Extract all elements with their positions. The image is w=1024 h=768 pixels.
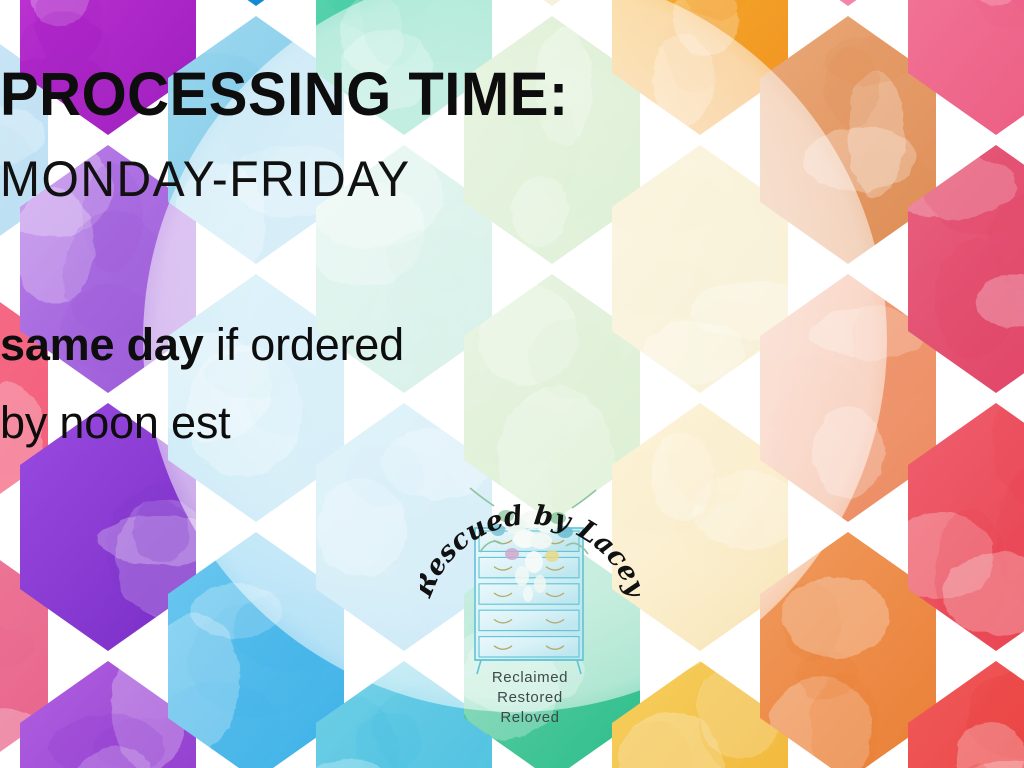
page-title: PROCESSING TIME: bbox=[0, 64, 1024, 125]
promotional-graphic: PROCESSING TIME: MONDAY-FRIDAY same day … bbox=[0, 0, 1024, 768]
promo-line-1: same day if ordered bbox=[0, 322, 1024, 367]
text-layer: PROCESSING TIME: MONDAY-FRIDAY same day … bbox=[0, 0, 1024, 768]
subtitle: MONDAY-FRIDAY bbox=[0, 155, 1024, 205]
promo-line-2: by noon est bbox=[0, 400, 1024, 445]
promo-remainder: if ordered bbox=[204, 319, 404, 370]
promo-emphasis: same day bbox=[0, 319, 204, 370]
